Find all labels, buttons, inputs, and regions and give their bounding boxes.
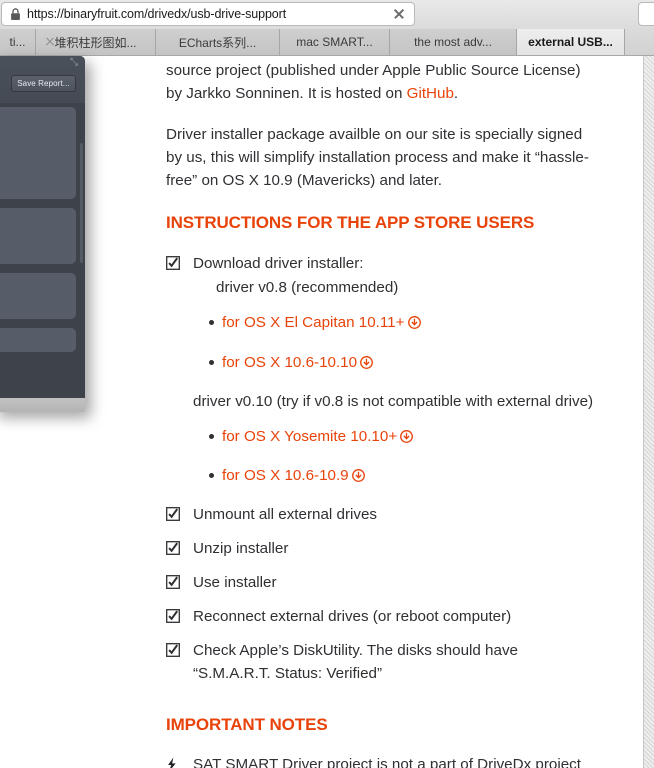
important-note-0: SAT SMART Driver project is not a part o… [166,753,596,768]
drivedx-report-window[interactable]: ⤡ Save Report... [0,56,85,412]
save-report-button[interactable]: Save Report... [11,75,76,92]
list-item-download-link: for OS X 10.6-10.10 [222,351,596,376]
download-circle-icon[interactable] [360,353,373,376]
checkbox-checked-icon [166,537,184,555]
paragraph-installer-note: Driver installer package availble on our… [166,123,596,192]
browser-tab-5[interactable]: external USB... [517,29,625,55]
download-circle-icon[interactable] [408,313,421,336]
instruction-step-4: Check Apple’s DiskUtility. The disks sho… [166,639,596,685]
list-item-download-link: for OS X 10.6-10.9 [222,464,596,489]
browser-tab-2[interactable]: ECharts系列... [156,29,280,55]
article-body: source project (published under Apple Pu… [166,56,596,768]
download-installer-label: Download driver installer: [193,255,364,272]
browser-tab-label: ECharts系列... [179,34,256,51]
github-link[interactable]: GitHub [407,85,454,102]
close-icon[interactable] [390,5,408,23]
list-item-download-installer: Download driver installer: driver v0.8 (… [166,252,596,299]
list-item-download-link: for OS X El Capitan 10.11+ [222,311,596,336]
resize-expand-icon[interactable]: ⤡ [70,58,80,68]
driver-v08-links: for OS X El Capitan 10.11+ for OS X 10.6… [166,311,596,375]
heading-instructions: INSTRUCTIONS FOR THE APP STORE USERS [166,210,596,236]
browser-tab-0[interactable]: ti... [0,29,36,55]
instruction-step-label: Unzip installer [193,540,288,557]
browser-tab-3[interactable]: mac SMART... [280,29,390,55]
address-bar-url: https://binaryfruit.com/drivedx/usb-driv… [27,7,390,21]
lightning-bolt-icon [166,753,184,768]
driver-v010-links: for OS X Yosemite 10.10+ for OS X 10.6-1… [166,425,596,489]
important-note-label: SAT SMART Driver project is not a part o… [193,756,581,768]
important-notes-list: SAT SMART Driver project is not a part o… [166,753,596,768]
tab-strip: ti...堆积柱形图如...ECharts系列...mac SMART...th… [0,29,654,55]
driver-v010-label: driver v0.10 (try if v0.8 is not compati… [193,390,596,413]
checkbox-checked-icon [166,639,184,657]
browser-tab-4[interactable]: the most adv... [390,29,517,55]
browser-tab-label: external USB... [528,35,613,49]
page-content: source project (published under Apple Pu… [0,56,654,768]
download-link-yosemite[interactable]: for OS X Yosemite 10.10+ [222,428,397,445]
download-link-el-capitan[interactable]: for OS X El Capitan 10.11+ [222,314,405,331]
checkbox-checked-icon [166,503,184,521]
url-bar-row: https://binaryfruit.com/drivedx/usb-driv… [0,0,654,28]
instruction-step-3: Reconnect external drives (or reboot com… [166,605,596,628]
paragraph-intro-text-after: . [454,85,458,102]
instruction-steps-list: Unmount all external drivesUnzip install… [166,503,596,686]
instruction-step-label: Unmount all external drives [193,506,377,523]
browser-tab-label: 堆积柱形图如... [54,34,136,51]
instruction-step-1: Unzip installer [166,537,596,560]
paragraph-intro: source project (published under Apple Pu… [166,59,596,105]
instruction-step-label: Use installer [193,574,277,591]
browser-tab-label: the most adv... [414,35,492,49]
instruction-step-0: Unmount all external drives [166,503,596,526]
app-window-body [0,103,85,398]
instructions-list: Download driver installer: driver v0.8 (… [166,252,596,299]
app-window-footer [0,398,85,412]
checkbox-checked-icon [166,571,184,589]
report-card [0,328,76,352]
driver-v08-label: driver v0.8 (recommended) [193,276,596,299]
browser-tab-label: ti... [9,35,25,49]
paragraph-intro-text-before: source project (published under Apple Pu… [166,62,581,102]
app-window-titlebar: ⤡ Save Report... [0,56,85,104]
download-circle-icon[interactable] [400,427,413,450]
download-circle-icon[interactable] [352,466,365,489]
page-scroll-gutter[interactable] [643,56,654,768]
app-window-scrollbar[interactable] [80,143,83,263]
browser-tab-1[interactable]: 堆积柱形图如... [36,29,156,55]
browser-chrome: https://binaryfruit.com/drivedx/usb-driv… [0,0,654,56]
download-link-10-6-10-9[interactable]: for OS X 10.6-10.9 [222,467,349,484]
report-card [0,273,76,319]
browser-tab-label: mac SMART... [296,35,372,49]
report-card [0,107,76,199]
address-bar[interactable]: https://binaryfruit.com/drivedx/usb-driv… [1,2,415,26]
report-card [0,208,76,264]
checkbox-checked-icon [166,252,184,270]
lock-icon [10,8,21,21]
instruction-step-2: Use installer [166,571,596,594]
list-item-download-link: for OS X Yosemite 10.10+ [222,425,596,450]
tab-close-icon[interactable] [44,36,56,48]
instruction-step-label: Reconnect external drives (or reboot com… [193,608,511,625]
instruction-step-label: Check Apple’s DiskUtility. The disks sho… [193,642,518,682]
checkbox-checked-icon [166,605,184,623]
search-field-partial[interactable] [638,2,654,26]
download-link-10-6-10-10[interactable]: for OS X 10.6-10.10 [222,354,357,371]
heading-important-notes: IMPORTANT NOTES [166,712,596,738]
